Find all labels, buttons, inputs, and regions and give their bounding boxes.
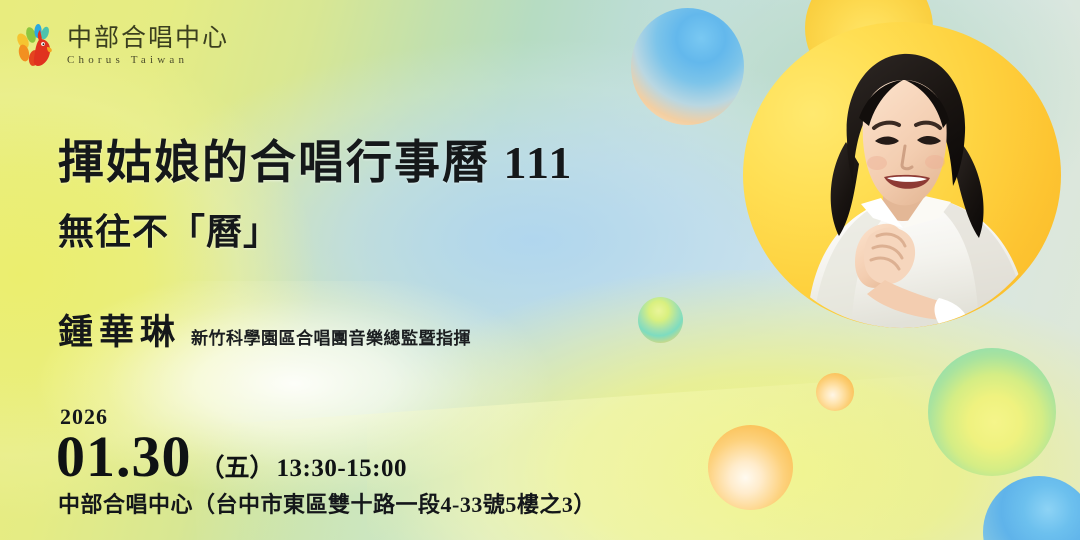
poster-title: 揮姑娘的合唱行事曆 111 — [58, 126, 573, 192]
event-date: 01.30 — [56, 428, 192, 486]
speaker-info: 鍾華琳 新竹科學園區合唱團音樂總監暨指揮 — [58, 304, 471, 355]
speaker-name: 鍾華琳 — [58, 304, 181, 355]
poster-subtitle: 無往不「曆」 — [58, 203, 280, 255]
poster-canvas: 中部合唱中心 Chorus Taiwan 揮姑娘的合唱行事曆 111 無往不「曆… — [0, 0, 1080, 540]
event-weekday: （五） — [200, 448, 275, 484]
event-datetime: 01.30 （五） 13:30-15:00 — [56, 428, 407, 486]
event-time: 13:30-15:00 — [277, 455, 407, 483]
speaker-role: 新竹科學園區合唱團音樂總監暨指揮 — [191, 324, 471, 349]
event-venue: 中部合唱中心（台中市東區雙十路一段4-33號5樓之3） — [58, 487, 596, 519]
poster-content: 揮姑娘的合唱行事曆 111 無往不「曆」 鍾華琳 新竹科學園區合唱團音樂總監暨指… — [0, 0, 1080, 540]
